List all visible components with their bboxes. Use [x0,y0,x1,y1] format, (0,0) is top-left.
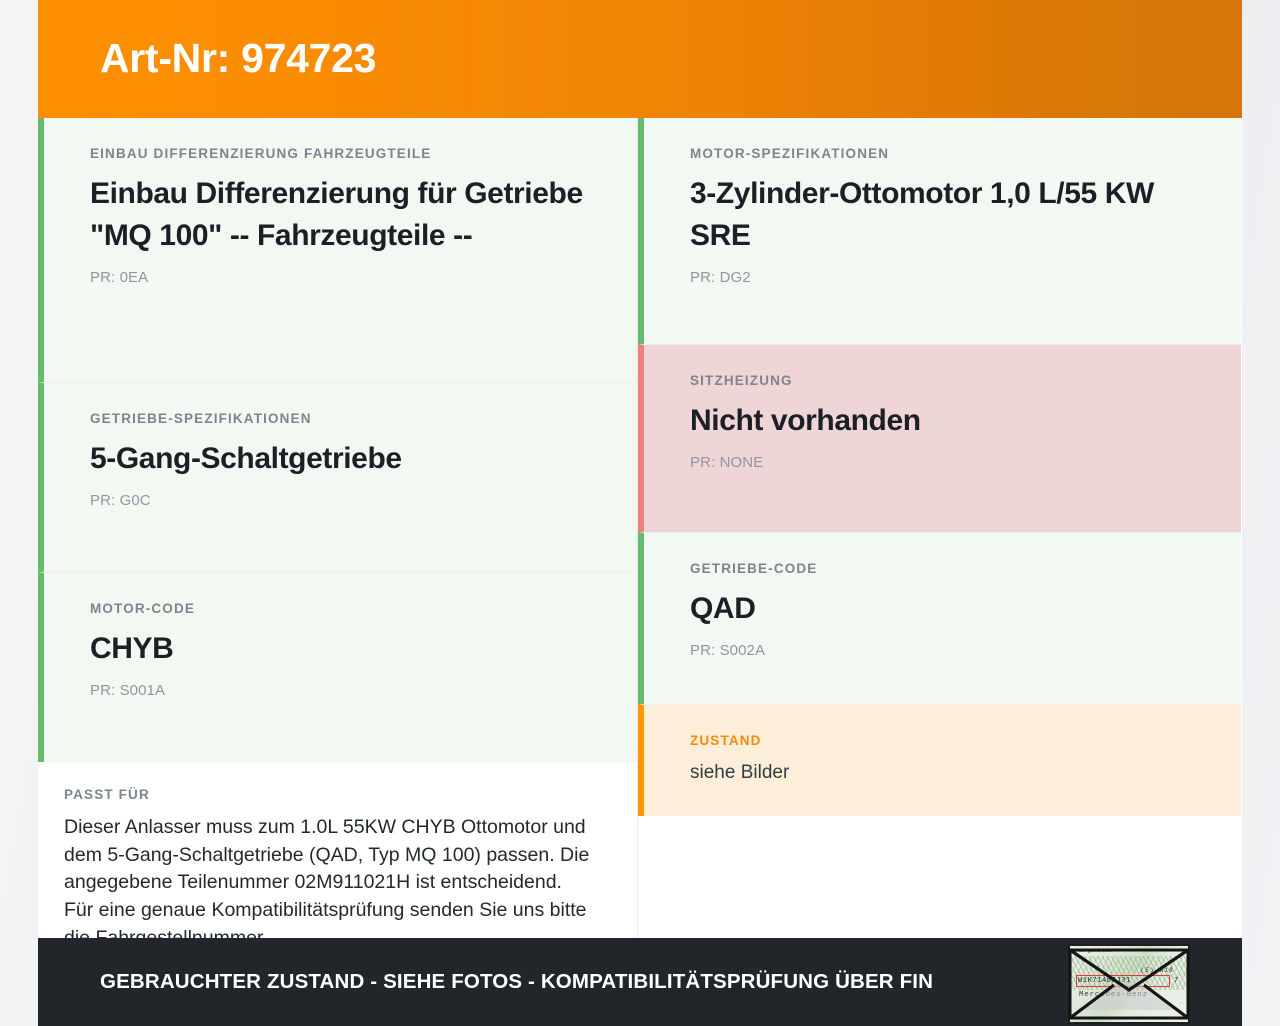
fits-for-label: PASST FÜR [64,787,593,802]
spec-card-label: MOTOR-CODE [90,601,591,616]
spec-card-pr-code: PR: NONE [690,454,1195,471]
spec-card-motor-code[interactable]: MOTOR-CODE CHYB PR: S001A [38,572,637,762]
spec-card-label: GETRIEBE-CODE [690,561,1195,576]
spec-card-pr-code: PR: DG2 [690,269,1195,286]
spec-card-label: MOTOR-SPEZIFIKATIONEN [690,146,1195,161]
fits-for-text: Dieser Anlasser muss zum 1.0L 55KW CHYB … [64,814,593,952]
spec-card-pr-code: PR: G0C [90,492,591,509]
spec-columns: EINBAU DIFFERENZIERUNG FAHRZEUGTEILE Ein… [38,118,1242,938]
spec-card-pr-code: PR: 0EA [90,269,591,286]
page-title: Art-Nr: 974723 [100,36,376,81]
spec-card-sitzheizung[interactable]: SITZHEIZUNG Nicht vorhanden PR: NONE [638,344,1241,532]
spec-card-label: EINBAU DIFFERENZIERUNG FAHRZEUGTEILE [90,146,591,161]
spec-card-einbau-differenzierung[interactable]: EINBAU DIFFERENZIERUNG FAHRZEUGTEILE Ein… [38,118,637,382]
spec-card-label: GETRIEBE-SPEZIFIKATIONEN [90,411,591,426]
spec-card-getriebe-code[interactable]: GETRIEBE-CODE QAD PR: S002A [638,532,1241,704]
right-column: MOTOR-SPEZIFIKATIONEN 3-Zylinder-Ottomot… [638,118,1241,938]
envelope-icon [1068,944,1190,1024]
spec-card-pr-code: PR: S002A [690,642,1195,659]
spec-card-value: QAD [690,588,1195,630]
header-banner: Art-Nr: 974723 [38,0,1242,118]
spec-card-value: CHYB [90,628,591,670]
spec-card-value: Einbau Differenzierung für Getriebe "MQ … [90,173,591,257]
vin-document-thumbnail[interactable]: Fahrgestellnr. (E) A18 W1K71463J31 7 Mer… [1068,944,1190,1024]
spec-card-getriebe-spezifikationen[interactable]: GETRIEBE-SPEZIFIKATIONEN 5-Gang-Schaltge… [38,382,637,572]
spec-card-value: Nicht vorhanden [690,400,1195,442]
spec-card-zustand[interactable]: ZUSTAND siehe Bilder [638,704,1241,816]
listing-sheet: Art-Nr: 974723 EINBAU DIFFERENZIERUNG FA… [38,0,1242,1026]
spec-card-motor-spezifikationen[interactable]: MOTOR-SPEZIFIKATIONEN 3-Zylinder-Ottomot… [638,118,1241,344]
spec-card-label: SITZHEIZUNG [690,373,1195,388]
spec-card-label: ZUSTAND [690,733,1195,748]
spec-card-value: 3-Zylinder-Ottomotor 1,0 L/55 KW SRE [690,173,1195,257]
spec-card-value: 5-Gang-Schaltgetriebe [90,438,591,480]
page-root: Art-Nr: 974723 EINBAU DIFFERENZIERUNG FA… [0,0,1280,1026]
right-column-spacer [638,816,1241,938]
spec-card-value: siehe Bilder [690,760,1195,786]
footer-banner: GEBRAUCHTER ZUSTAND - SIEHE FOTOS - KOMP… [38,938,1242,1026]
footer-notice: GEBRAUCHTER ZUSTAND - SIEHE FOTOS - KOMP… [100,970,933,994]
left-column: EINBAU DIFFERENZIERUNG FAHRZEUGTEILE Ein… [38,118,638,938]
spec-card-pr-code: PR: S001A [90,682,591,699]
